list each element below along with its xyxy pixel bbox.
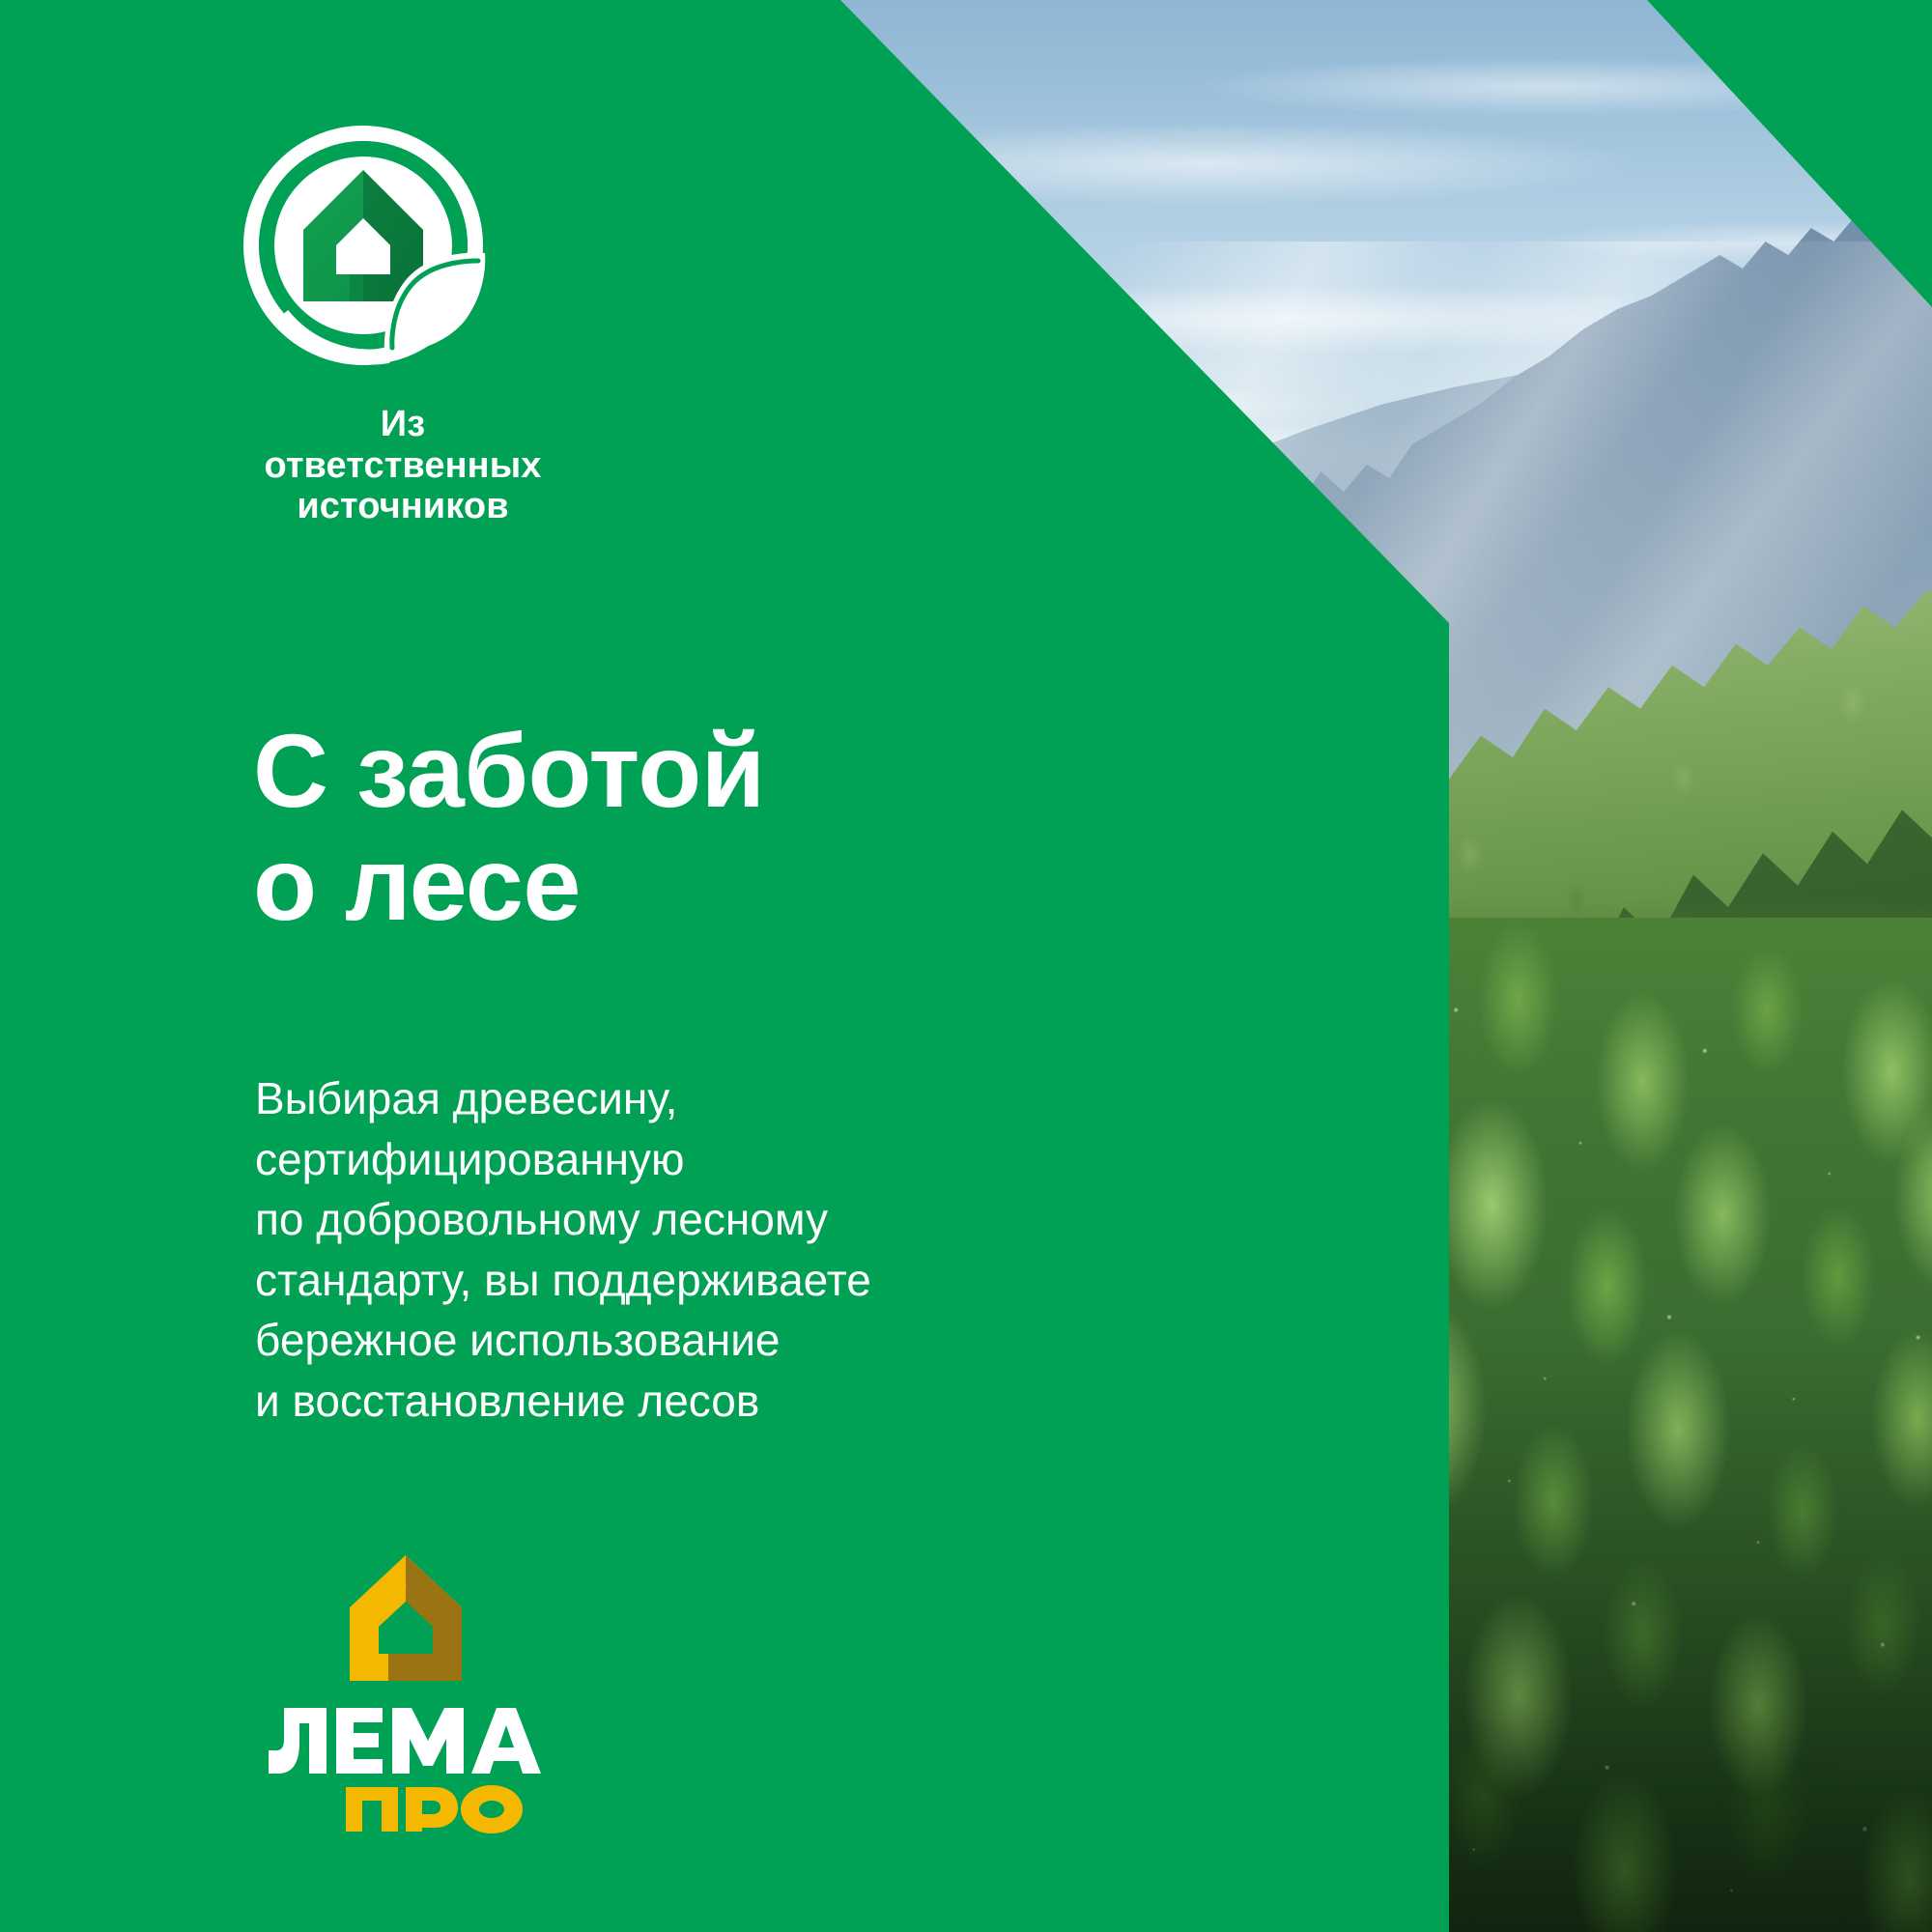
poster-canvas: Из ответственных источников С заботой о …: [0, 0, 1932, 1932]
house-roof-icon: [350, 1555, 462, 1681]
poster-content: Из ответственных источников С заботой о …: [0, 0, 1932, 1932]
lemana-pro-logo-icon: [253, 1546, 583, 1835]
lemana-wordmark-label: ЛЕМАНА: [253, 1835, 254, 1836]
responsible-sources-seal-icon: [243, 126, 506, 379]
certification-caption: Из ответственных источников: [243, 404, 562, 527]
brand-lockup: ЛЕМАНА ПРО: [253, 1546, 659, 1835]
pro-wordmark-label: ПРО: [253, 1835, 254, 1836]
certification-logo: Из ответственных источников: [243, 126, 553, 527]
page-title: С заботой о лесе: [253, 715, 765, 940]
body-copy: Выбирая древесину, сертифицированную по …: [255, 1068, 1047, 1431]
pro-wordmark: [346, 1785, 523, 1833]
lemana-wordmark: [269, 1708, 583, 1774]
